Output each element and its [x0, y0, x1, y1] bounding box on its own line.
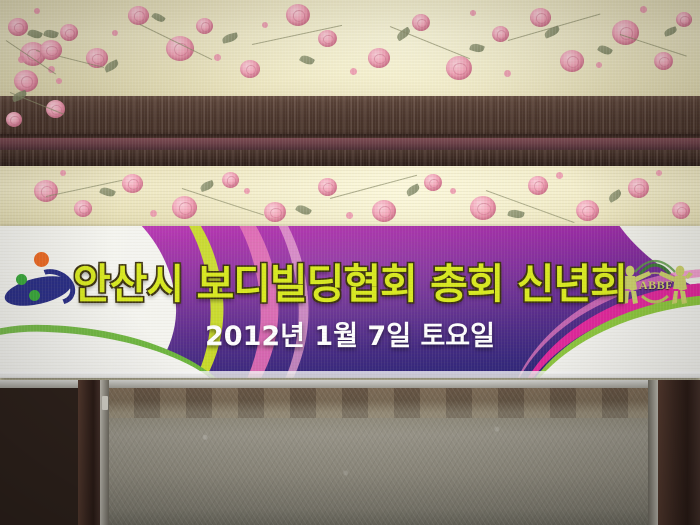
door-frame-right — [658, 380, 700, 525]
wallpaper-upper — [0, 0, 700, 104]
glass-damask-band — [108, 388, 648, 418]
sliding-glass-door[interactable] — [0, 380, 700, 525]
wooden-beam-upper — [0, 96, 700, 138]
door-handle[interactable] — [102, 396, 108, 410]
beam-accent-band — [0, 138, 700, 150]
banner-title: 안산시 보디빌딩협회 총회 신년회 — [0, 250, 700, 310]
banner-date: 2012년 1월 7일 토요일 — [0, 314, 700, 353]
wallpaper-middle — [0, 166, 700, 228]
frosted-glass-panel — [108, 388, 648, 525]
wooden-beam-lower — [0, 150, 700, 167]
photo-scene: ABBF 안산시 보디빌딩협회 총회 신년회 2012년 1월 7일 토요일 — [0, 0, 700, 525]
door-frame-left — [78, 380, 100, 525]
door-rail-right[interactable] — [648, 380, 658, 525]
banner-bottom-edge — [0, 371, 700, 378]
